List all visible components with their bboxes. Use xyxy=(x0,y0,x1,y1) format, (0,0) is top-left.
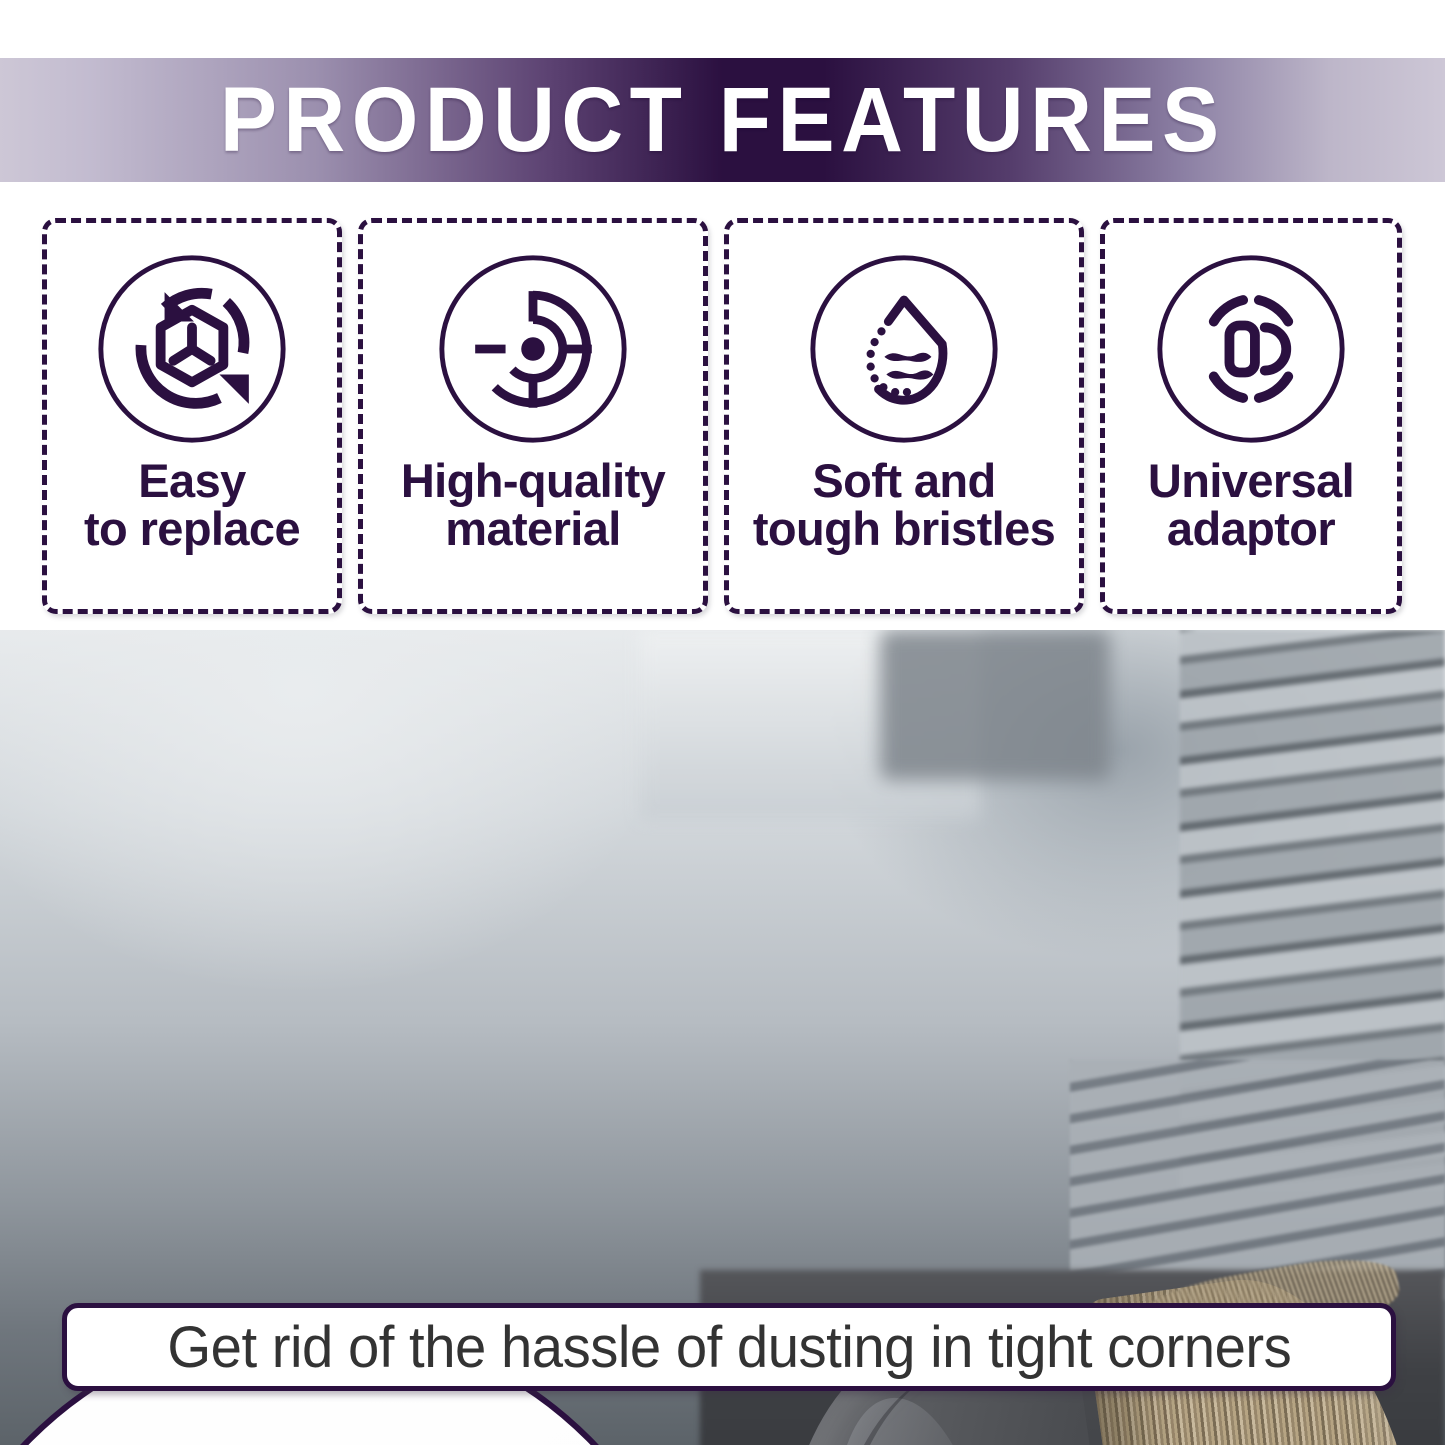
feature-label-easy-to-replace: Easy to replace xyxy=(84,457,300,554)
car-vent-louvers-lower xyxy=(1070,1060,1445,1300)
feature-label-soft-tough-bristles: Soft and tough bristles xyxy=(753,457,1055,554)
page-title: PRODUCT FEATURES xyxy=(220,74,1226,166)
caption-text: Get rid of the hassle of dusting in tigh… xyxy=(167,1314,1291,1381)
feature-card-easy-to-replace[interactable]: Easy to replace xyxy=(42,218,342,614)
feature-label-universal-adaptor: Universal adaptor xyxy=(1148,457,1354,554)
universal-adaptor-icon xyxy=(1153,251,1349,447)
feature-card-high-quality-material[interactable]: High-quality material xyxy=(358,218,708,614)
feature-card-row: Easy to replace xyxy=(42,218,1402,614)
header-banner: PRODUCT FEATURES xyxy=(0,58,1445,182)
caption-banner: Get rid of the hassle of dusting in tigh… xyxy=(62,1303,1396,1391)
feature-label-high-quality-material: High-quality material xyxy=(401,457,665,554)
background-seat-blur xyxy=(880,630,1110,780)
target-crosshair-icon xyxy=(435,251,631,447)
water-droplet-bristles-icon xyxy=(806,251,1002,447)
feature-card-soft-tough-bristles[interactable]: Soft and tough bristles xyxy=(724,218,1084,614)
product-features-infographic: PRODUCT FEATURES xyxy=(0,0,1445,1445)
feature-card-universal-adaptor[interactable]: Universal adaptor xyxy=(1100,218,1402,614)
replace-cycle-icon xyxy=(94,251,290,447)
